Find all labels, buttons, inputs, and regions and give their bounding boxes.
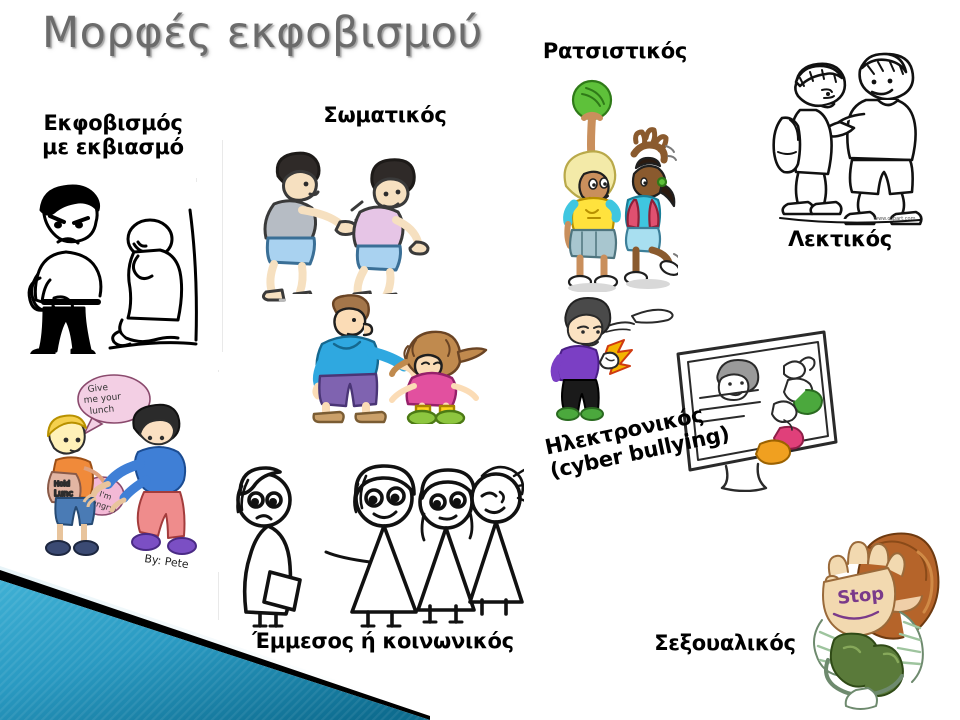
caption-sexual: Σεξουαλικός: [630, 632, 820, 656]
illustration-lunch-money-drawing: Give me your lunch No I'm hungry!: [22, 372, 222, 572]
svg-text:Lunc: Lunc: [54, 489, 73, 498]
caption-racist: Ρατσιστικός: [520, 40, 710, 64]
illustration-sexual-stop: Stop: [800, 528, 950, 713]
caption-physical: Σωματικός: [300, 104, 470, 128]
svg-text:Hold: Hold: [54, 480, 70, 488]
illustration-hair-pull: [286, 294, 496, 424]
illustration-racist-ball: [548, 78, 678, 296]
svg-text:www.clipart.com: www.clipart.com: [874, 216, 916, 222]
caption-indirect: Έμμεσος ή κοινωνικός: [238, 630, 528, 654]
illustration-indirect-stick-figures: [224, 456, 524, 628]
caption-verbal: Λεκτικός: [760, 228, 920, 252]
slide-canvas: Μορφές εκφοβισμού: [0, 0, 960, 720]
illustration-verbal-lineart: www.clipart.com: [754, 48, 934, 228]
page-title: Μορφές εκφοβισμού: [42, 8, 562, 58]
panel-divider-right: [222, 140, 223, 352]
illustration-extortion-lineart: [14, 182, 210, 354]
caption-extortion: Εκφοβισμός με εκβιασμό: [18, 112, 208, 159]
illustration-physical-push: [236, 146, 436, 306]
